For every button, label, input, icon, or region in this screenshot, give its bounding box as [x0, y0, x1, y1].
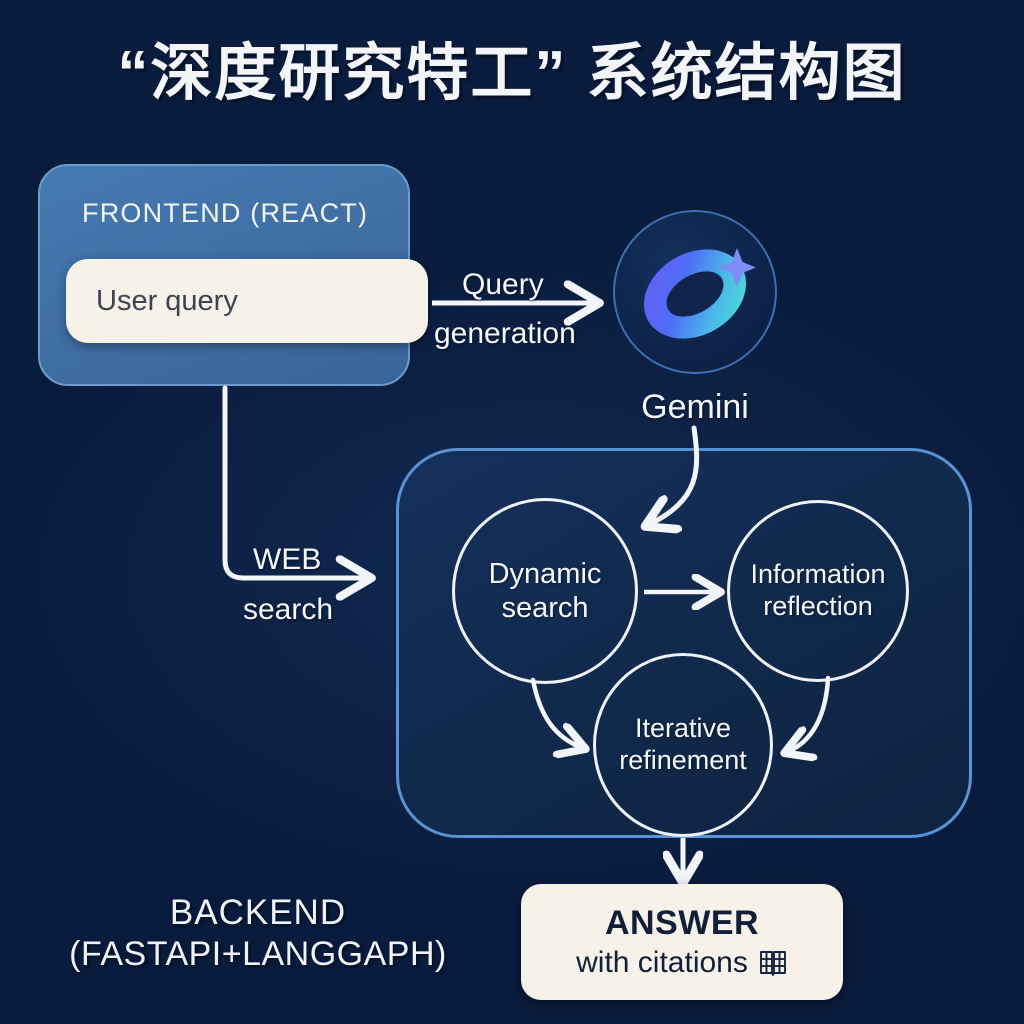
- answer-card[interactable]: ANSWER with citations: [521, 884, 843, 1000]
- node-information-reflection-line1: Information: [750, 559, 885, 591]
- page-title: “深度研究特工” 系统结构图: [0, 22, 1024, 112]
- node-dynamic-search[interactable]: Dynamic search: [452, 498, 638, 684]
- gemini-logo-badge: [613, 210, 777, 374]
- node-iterative-refinement-line1: Iterative: [619, 713, 747, 745]
- user-query-input-value: User query: [96, 285, 238, 318]
- edge-label-query: Query: [462, 268, 544, 302]
- gemini-logo-icon: [615, 212, 775, 372]
- node-dynamic-search-line2: search: [489, 591, 602, 625]
- frontend-panel-label: FRONTEND (REACT): [82, 198, 368, 229]
- book-citations-icon: [758, 948, 788, 978]
- backend-caption: BACKEND (FASTAPI+LANGGAPH): [22, 892, 494, 975]
- gemini-label: Gemini: [573, 388, 817, 427]
- answer-subtitle-row: with citations: [576, 946, 788, 980]
- edge-label-search: search: [243, 593, 333, 627]
- edge-label-web: WEB: [253, 543, 321, 577]
- answer-title: ANSWER: [605, 904, 759, 943]
- backend-caption-line1: BACKEND: [22, 892, 494, 934]
- node-dynamic-search-line1: Dynamic: [489, 557, 602, 591]
- answer-subtitle: with citations: [576, 946, 748, 980]
- user-query-input[interactable]: User query: [66, 259, 428, 343]
- edge-label-generation: generation: [434, 317, 576, 351]
- node-information-reflection[interactable]: Information reflection: [727, 500, 909, 682]
- diagram-canvas: “深度研究特工” 系统结构图 FRONTEND (REACT) User que…: [0, 0, 1024, 1024]
- backend-caption-line2: (FASTAPI+LANGGAPH): [22, 934, 494, 975]
- node-iterative-refinement-line2: refinement: [619, 745, 747, 777]
- node-information-reflection-line2: reflection: [750, 591, 885, 623]
- node-iterative-refinement[interactable]: Iterative refinement: [593, 653, 773, 837]
